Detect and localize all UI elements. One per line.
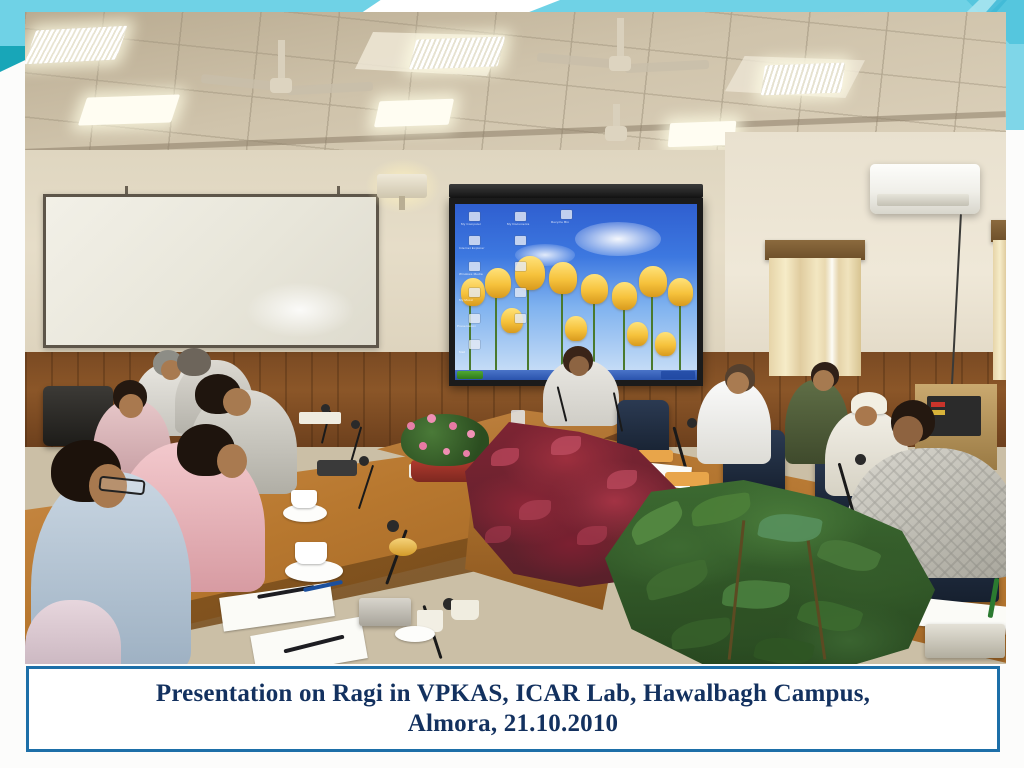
desktop-icon-internet-explorer[interactable] [469,236,480,245]
person-face [893,416,923,446]
ceiling-panel-light [25,26,128,65]
decor-left-cyan-band [0,0,25,60]
flower [427,414,436,423]
green-leafy-plant [605,480,935,664]
microphone-head [359,456,369,466]
microphone-head [387,520,399,532]
tulip [565,316,587,341]
window-light-gap [825,258,839,370]
person-face [727,372,749,394]
desktop-icon-windows-media[interactable] [469,262,480,271]
name-card [299,412,341,424]
equipment-indicator [931,402,945,407]
projector-screen-case [449,184,703,198]
flower [407,422,415,430]
desktop-icon-my-computer[interactable] [469,212,480,221]
desktop-icon-label: My Music [459,298,473,302]
microphone-head [351,420,360,429]
desktop-icon-label: Internet Explorer [459,246,485,250]
desk-device [925,624,1005,658]
ceiling-fan-motor [270,78,292,93]
desktop-icon-presentation[interactable] [469,314,480,323]
wall-sconce-arm [399,196,405,210]
curtain-pelmet [765,240,865,260]
tulip [581,274,608,304]
desktop-icon-label: My Documents [507,222,529,226]
saucer [395,626,435,642]
desktop-icon-my-documents[interactable] [515,212,526,221]
desktop-icon-label: Presentation [457,324,476,328]
system-tray[interactable] [661,371,695,379]
ceiling-panel-light [78,94,180,125]
person-face [223,388,251,416]
desktop-icon-data-folder[interactable] [515,314,526,323]
tulip [627,322,648,346]
microphone-head [687,418,697,428]
flower [449,422,457,430]
slide-canvas: My Computer My Documents Recycle Bin Int… [0,0,1024,768]
tulip-stem [623,304,625,380]
tulip-stem [495,290,497,380]
microphone-head [855,454,866,465]
whiteboard-glare [245,282,355,338]
tulip-stem [469,296,471,380]
ceiling-fan-rod [617,18,624,58]
ceiling-panel-light [761,63,846,96]
tulip-stem [651,290,653,380]
desktop-icon-adobe-reader[interactable] [515,236,526,245]
foliage [605,480,935,664]
tulip [549,262,577,294]
tulip [655,332,676,356]
ceiling-fan-rod [278,40,285,82]
tulip [639,266,667,297]
desktop-icon-label: Mail [459,350,465,354]
desktop-icon-label: Recycle Bin [551,220,569,224]
cloud [575,222,661,256]
person-face [855,406,877,426]
flower [443,448,450,455]
meeting-photograph: My Computer My Documents Recycle Bin Int… [25,12,1006,664]
ceiling-fan-motor [605,126,627,141]
air-conditioner-unit [870,164,980,214]
person-face [813,370,834,391]
flower [419,442,427,450]
air-conditioner-vent [877,194,969,206]
wall-sconce [377,174,427,198]
tea-cup [295,542,327,564]
desktop-icon-shortcut[interactable] [515,288,526,297]
caption-line-1: Presentation on Ragi in VPKAS, ICAR Lab,… [156,680,870,707]
desktop-icon-network[interactable] [515,262,526,271]
caption-line-2: Almora, 21.10.2010 [156,709,870,740]
snack-bowl [389,538,417,556]
tulip [485,268,511,298]
desk-device [317,460,357,476]
person-face [217,444,247,478]
tulip [612,282,637,310]
person-face [119,394,143,418]
desktop-icon-my-music[interactable] [469,288,480,297]
person-head [177,348,211,376]
ceiling-fan-motor [609,56,631,71]
ceiling-panel-light [409,36,505,69]
tulip-stem [527,282,529,380]
curtain-pelmet [991,220,1006,242]
desktop-icon-label: Windows Media [459,272,483,276]
person-face [569,356,589,376]
tulip-stem [679,300,681,380]
start-button[interactable] [457,371,483,379]
ceiling-panel-light [374,99,454,128]
desktop-icon-mail[interactable] [469,340,480,349]
desktop-icon-label: My Computer [461,222,481,226]
window-curtain [769,258,861,376]
tea-cup [291,490,317,508]
caption-box: Presentation on Ragi in VPKAS, ICAR Lab,… [26,666,1000,752]
paper-cup [451,600,479,620]
desktop-icon-recycle-bin[interactable] [561,210,572,219]
window-curtain [993,240,1006,380]
tulip [668,278,693,306]
desk-device [359,598,411,626]
caption-text: Presentation on Ragi in VPKAS, ICAR Lab,… [156,679,870,740]
